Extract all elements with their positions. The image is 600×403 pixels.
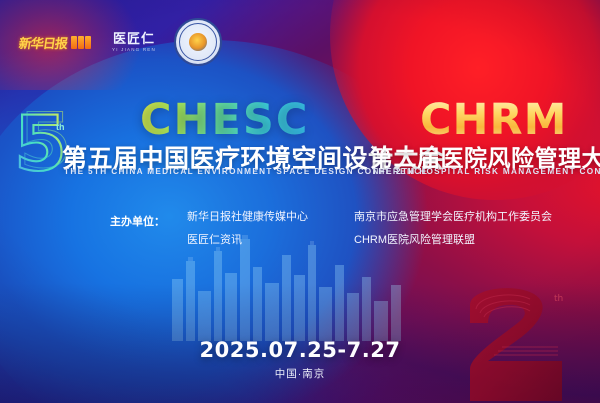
- conference-poster: 新华日报 医匠仁 YI JIANG REN 5 5 th C: [0, 0, 600, 403]
- seal-emblem-icon: [189, 33, 207, 51]
- second-edition-suffix: th: [554, 294, 563, 304]
- xinhua-daily-logo-text: 新华日报: [18, 33, 69, 52]
- event-date: 2025.07.25-7.27: [0, 338, 600, 362]
- xinhua-daily-logo: 新华日报: [16, 29, 94, 55]
- organizers-block: 主办单位： 新华日报社健康传媒中心 医匠仁资讯 南京市应急管理学会医疗机构工作委…: [110, 210, 552, 248]
- chrm-title-en: THE 2TH HOSPITAL RISK MANAGEMENT CONFERE…: [372, 167, 600, 176]
- organizers-column-one: 新华日报社健康传媒中心 医匠仁资讯: [187, 210, 308, 248]
- organizer-item: 新华日报社健康传媒中心: [187, 210, 308, 225]
- chesc-acronym: CHESC: [140, 95, 309, 145]
- yijiangren-logo: 医匠仁 YI JIANG REN: [112, 32, 156, 53]
- organizer-item: 南京市应急管理学会医疗机构工作委员会: [354, 210, 552, 225]
- organizer-item: 医匠仁资讯: [187, 233, 308, 248]
- yijiangren-logo-en: YI JIANG REN: [112, 48, 156, 53]
- association-seal-logo: [174, 18, 222, 66]
- organizers-label: 主办单位：: [110, 210, 165, 248]
- organizers-column-two: 南京市应急管理学会医疗机构工作委员会 CHRM医院风险管理联盟: [354, 210, 552, 248]
- fifth-edition-suffix: th: [56, 122, 65, 132]
- organizer-item: CHRM医院风险管理联盟: [354, 233, 552, 248]
- chrm-acronym: CHRM: [420, 95, 567, 145]
- xinhua-logo-blocks-icon: [71, 36, 91, 49]
- logo-bar: 新华日报 医匠仁 YI JIANG REN: [16, 18, 222, 66]
- yijiangren-logo-cn: 医匠仁: [112, 32, 156, 45]
- event-location: 中国·南京: [0, 366, 600, 381]
